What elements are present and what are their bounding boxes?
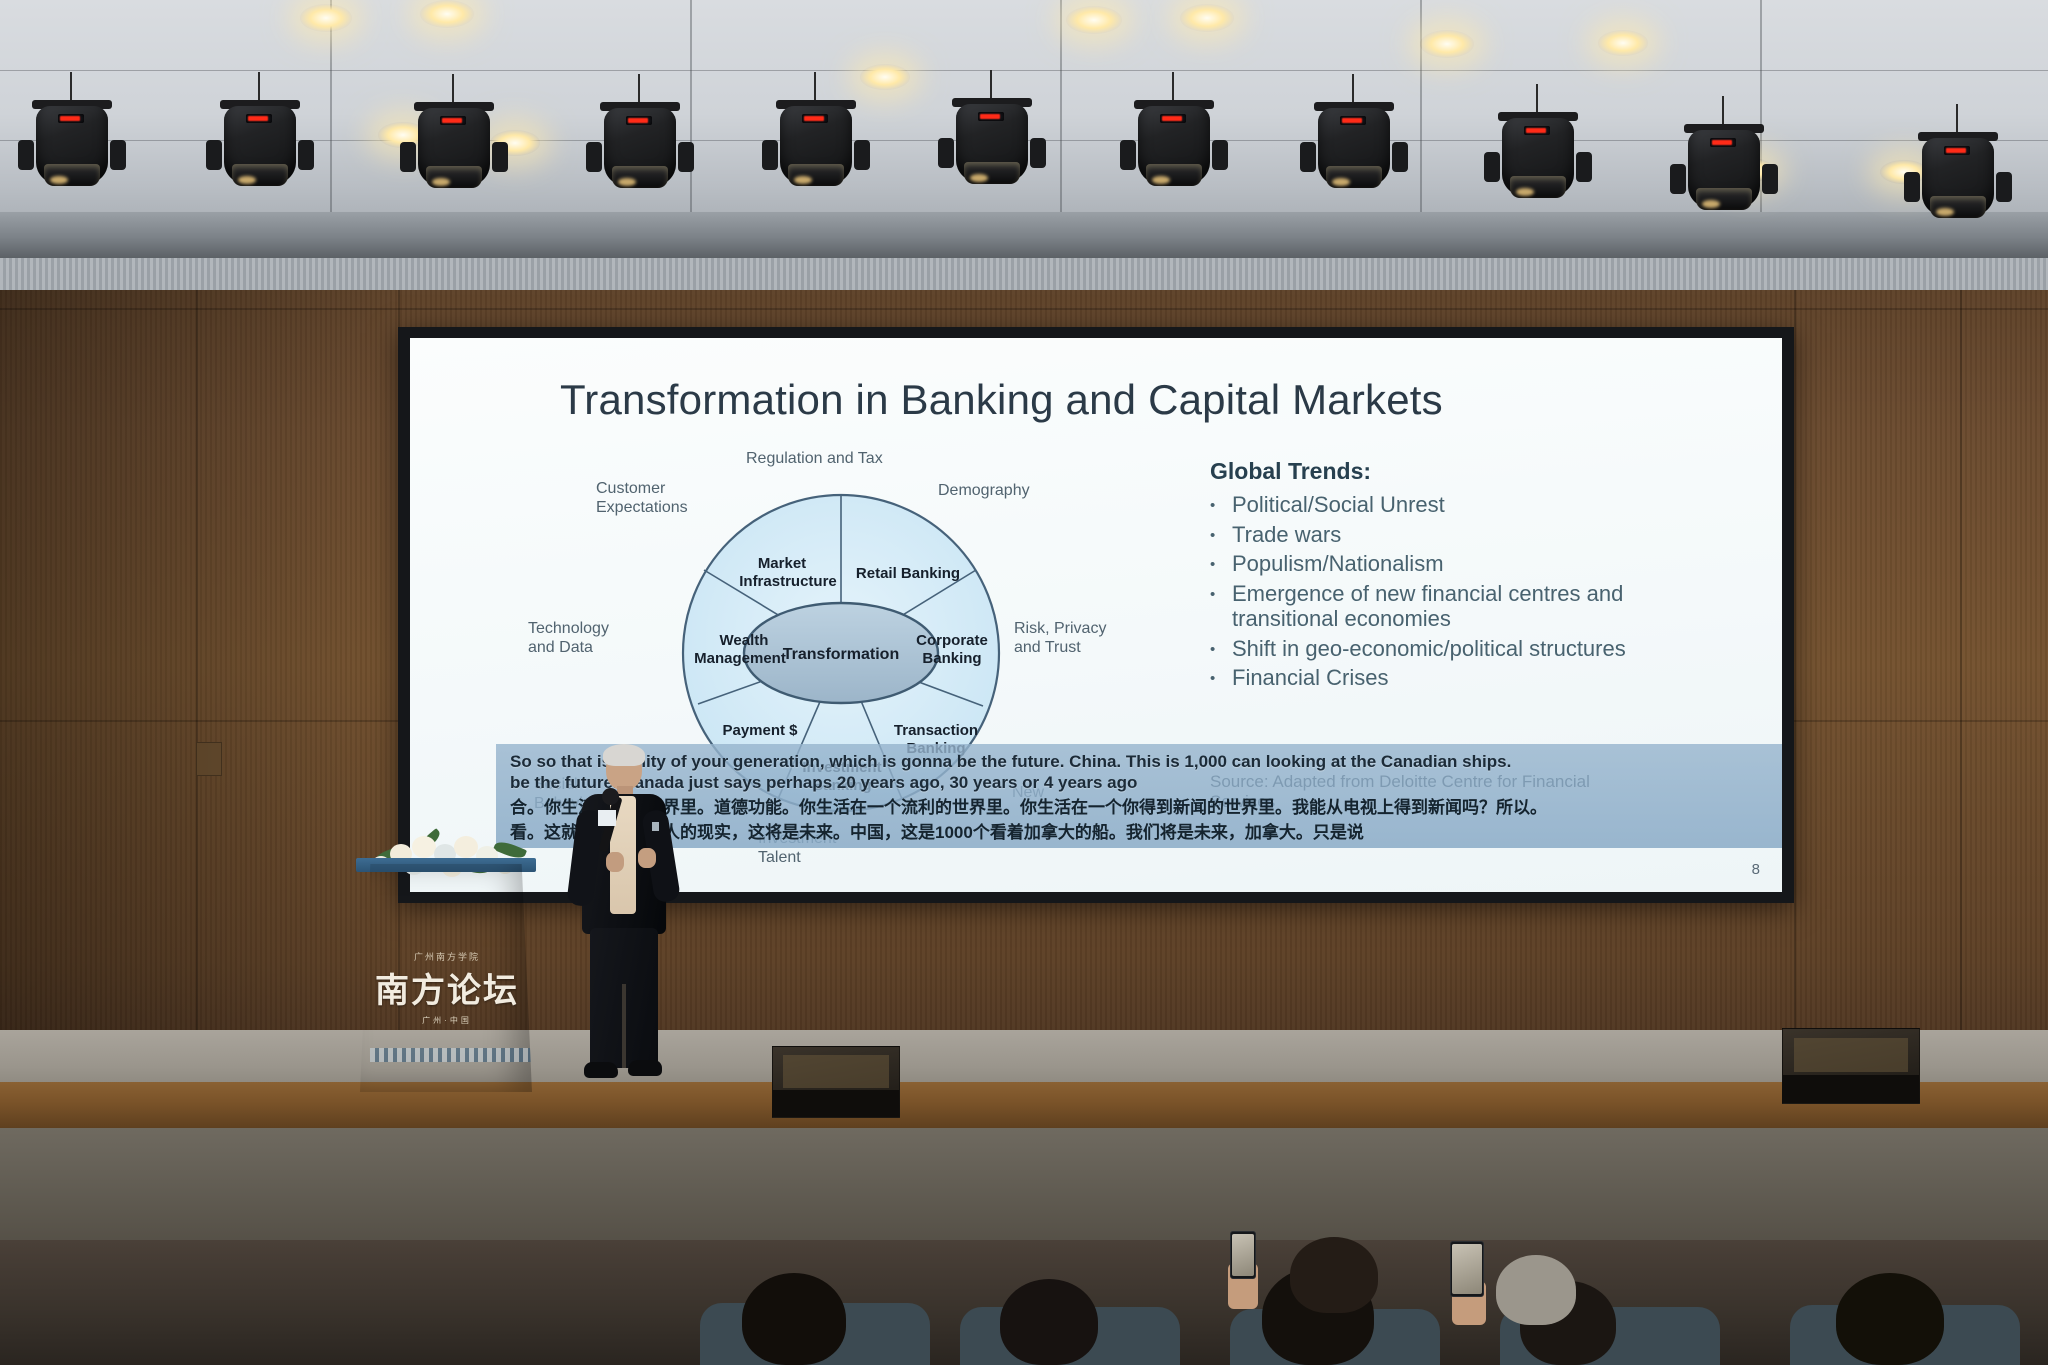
audience-member-head <box>1290 1237 1378 1313</box>
trend-label: Financial Crises <box>1232 665 1640 691</box>
global-trends-panel: Global Trends: • Political/Social Unrest… <box>1210 458 1640 695</box>
presenter-right-hand <box>638 848 656 868</box>
presenter-left-hand <box>606 852 624 872</box>
stage-light-fixture <box>1676 122 1772 230</box>
stage-light-fixture <box>1306 100 1402 208</box>
audience-phone <box>1450 1241 1484 1297</box>
trend-label: Populism/Nationalism <box>1232 551 1640 577</box>
wheel-seg-market-infrastructure: Market <box>758 555 806 572</box>
podium-logo-small-text: 广州南方学院 <box>352 950 542 963</box>
presenter-shoe <box>584 1062 618 1078</box>
stage-light-fixture <box>24 98 120 206</box>
stage-light-fixture <box>592 100 688 208</box>
stage-light-fixture <box>406 100 502 208</box>
subtitle-chinese-line-2: 看。这就是你们这代人的现实，这将是未来。中国，这是1000个看着加拿大的船。我们… <box>510 822 1772 844</box>
trend-item: • Political/Social Unrest <box>1210 492 1640 518</box>
trend-item: • Emergence of new financial centres and… <box>1210 581 1640 632</box>
wheel-seg-retail-banking: Retail Banking <box>856 565 960 582</box>
stage-monitor-speaker <box>772 1046 900 1118</box>
ceiling-downlight <box>1066 6 1122 34</box>
outer-label-technology-and-data: Technology and Data <box>528 620 609 657</box>
slide-page-number: 8 <box>1752 861 1760 878</box>
trend-item: • Financial Crises <box>1210 665 1640 691</box>
ceiling-downlight <box>420 0 474 28</box>
trend-label: Trade wars <box>1232 522 1640 548</box>
stage-light-fixture <box>1910 130 2006 238</box>
slide-title: Transformation in Banking and Capital Ma… <box>560 376 1660 424</box>
ceiling-downlight <box>1598 30 1648 56</box>
audience-member-head <box>1000 1279 1098 1365</box>
stage-light-fixture <box>944 96 1040 204</box>
ceiling-downlight <box>1180 4 1234 32</box>
subtitle-english-line-2: be the future. Canada just says perhaps … <box>510 772 1772 793</box>
bullet-icon: • <box>1210 636 1232 662</box>
stage-light-fixture <box>1490 110 1586 218</box>
outer-label-regulation-and-tax: Regulation and Tax <box>746 450 883 469</box>
bullet-icon: • <box>1210 522 1232 548</box>
presenter-hair <box>603 744 645 766</box>
audience-member-head <box>1836 1273 1944 1365</box>
stage-light-fixture <box>212 98 308 206</box>
bullet-icon: • <box>1210 581 1232 632</box>
wheel-seg-transaction-banking: Transaction <box>894 722 978 739</box>
trend-item: • Shift in geo-economic/political struct… <box>1210 636 1640 662</box>
microphone-head-icon <box>602 788 619 805</box>
wheel-seg-corporate-banking-2: Banking <box>922 650 981 667</box>
podium-logo-main-text: 南方论坛 <box>352 963 542 1012</box>
bullet-icon: • <box>1210 665 1232 691</box>
presenter-trousers <box>590 928 658 1068</box>
subtitle-english-line-1: So so that is reality of your generation… <box>510 751 1772 772</box>
ceiling-downlight <box>860 64 910 90</box>
audience-member-head <box>742 1273 846 1365</box>
wheel-core-label: Transformation <box>783 646 899 663</box>
trend-label: Shift in geo-economic/political structur… <box>1232 636 1640 662</box>
wheel-seg-corporate-banking: Corporate <box>916 632 988 649</box>
subtitle-chinese-line-1: 合。你生活在一个世界里。道德功能。你生活在一个流利的世界里。你生活在一个你得到新… <box>510 797 1772 819</box>
wheel-seg-payment: Payment $ <box>722 722 798 739</box>
wheel-seg-market-infrastructure-2: Infrastructure <box>739 573 837 590</box>
audience-member-head <box>1496 1255 1576 1325</box>
bullet-icon: • <box>1210 492 1232 518</box>
stage-light-fixture <box>768 98 864 206</box>
trend-label: Political/Social Unrest <box>1232 492 1640 518</box>
ceiling-downlight <box>300 4 352 32</box>
global-trends-heading: Global Trends: <box>1210 458 1640 485</box>
wheel-seg-wealth-management-2: Management <box>694 650 786 667</box>
podium-logo: 广州南方学院 南方论坛 广州·中国 <box>352 950 542 1026</box>
speaker-podium: 广州南方学院 南方论坛 广州·中国 <box>352 842 542 1092</box>
outer-label-customer-expectations: Customer Expectations <box>596 480 688 517</box>
live-subtitle-overlay: So so that is reality of your generation… <box>496 744 1782 848</box>
presenter-person <box>562 748 684 1098</box>
trend-item: • Trade wars <box>1210 522 1640 548</box>
stage-light-fixture <box>1126 98 1222 206</box>
microphone-flag <box>598 810 616 826</box>
presenter-shoe <box>628 1060 662 1076</box>
stage-front-edge <box>0 1082 2048 1128</box>
trend-label: Emergence of new financial centres and t… <box>1232 581 1640 632</box>
presentation-hall-photo: Transformation in Banking and Capital Ma… <box>0 0 2048 1365</box>
ceiling-downlight <box>1420 30 1474 58</box>
bullet-icon: • <box>1210 551 1232 577</box>
wheel-seg-wealth-management: Wealth <box>720 632 769 649</box>
stage-monitor-speaker <box>1782 1028 1920 1104</box>
trend-item: • Populism/Nationalism <box>1210 551 1640 577</box>
presenter-lapel-badge <box>652 822 659 831</box>
audience-phone <box>1230 1231 1256 1279</box>
outer-label-risk-privacy-and-trust: Risk, Privacy and Trust <box>1014 620 1106 657</box>
podium-logo-sub-text: 广州·中国 <box>352 1015 542 1026</box>
